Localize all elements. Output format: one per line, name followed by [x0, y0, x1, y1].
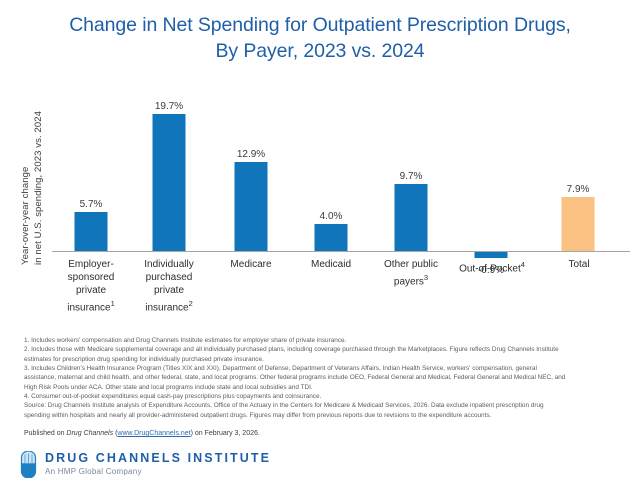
x-label-text: Out-of-Pocket [459, 263, 521, 274]
logo-text: DRUG CHANNELS INSTITUTE An HMP Global Co… [45, 452, 271, 476]
x-label-line: private [126, 284, 212, 297]
footnote-line: assistance, maternal and child health, a… [24, 373, 624, 382]
logo-company-name: DRUG CHANNELS INSTITUTE [45, 452, 271, 465]
bar-slot-total: 7.9% [539, 100, 617, 252]
bar-value-individually-purchased: 19.7% [155, 101, 183, 112]
x-axis-line [52, 251, 630, 252]
x-label-line: Medicare [208, 258, 294, 271]
publication-name: Drug Channels [66, 430, 113, 437]
published-suffix: ) on February 3, 2026. [191, 430, 260, 437]
footnote-line: 1. Includes workers' compensation and Dr… [24, 336, 624, 345]
x-label-text: insurance [67, 302, 110, 313]
bar-chart: 5.7% 19.7% 12.9% 4.0% 9.7% -0.9% [0, 78, 640, 328]
bar-medicaid[interactable] [315, 224, 348, 252]
drug-channels-institute-logo: DRUG CHANNELS INSTITUTE An HMP Global Co… [20, 450, 271, 478]
x-label-medicaid: Medicaid [288, 258, 374, 271]
footnotes: 1. Includes workers' compensation and Dr… [24, 336, 624, 420]
bar-value-medicaid: 4.0% [320, 211, 343, 222]
footnote-marker: 2 [189, 299, 193, 308]
bar-value-other-public-payers: 9.7% [400, 171, 423, 182]
x-label-line: Medicaid [288, 258, 374, 271]
bar-individually-purchased[interactable] [153, 114, 186, 252]
x-label-individually-purchased: Individually purchased private insurance… [126, 258, 212, 314]
x-label-out-of-pocket: Out-of-Pocket4 [449, 258, 535, 275]
logo-tagline: An HMP Global Company [45, 468, 271, 476]
x-label-line: Out-of-Pocket4 [449, 258, 535, 275]
source-line: Source: Drug Channels Institute analysis… [24, 401, 624, 410]
bar-slot-employer-sponsored: 5.7% [52, 100, 130, 252]
drugchannels-link[interactable]: www.DrugChannels.net [117, 430, 190, 437]
x-label-line: Other public [368, 258, 454, 271]
footnote-marker: 1 [111, 299, 115, 308]
chart-title-line-2: By Payer, 2023 vs. 2024 [0, 38, 640, 64]
bar-slot-out-of-pocket: -0.9% [452, 100, 530, 252]
x-label-text: insurance [145, 302, 188, 313]
footnote-marker: 3 [424, 273, 428, 282]
footnote-line: 3. Includes Children's Health Insurance … [24, 364, 624, 373]
x-label-employer-sponsored: Employer- sponsored private insurance1 [48, 258, 134, 314]
source-line: spending within hospitals and nearly all… [24, 411, 624, 420]
footnote-line: High Risk Pools under ACA. Other state a… [24, 383, 624, 392]
x-label-medicare: Medicare [208, 258, 294, 271]
x-label-line: insurance1 [48, 297, 134, 314]
chart-title-line-1: Change in Net Spending for Outpatient Pr… [0, 12, 640, 38]
x-label-line: private [48, 284, 134, 297]
x-label-total: Total [536, 258, 622, 271]
x-label-line: Employer- [48, 258, 134, 271]
x-label-line: sponsored [48, 271, 134, 284]
footnote-line: 4. Consumer out-of-pocket expenditures e… [24, 392, 624, 401]
bar-slot-medicaid: 4.0% [292, 100, 370, 252]
bar-value-employer-sponsored: 5.7% [80, 199, 103, 210]
footnote-marker: 4 [521, 260, 525, 269]
plot-area: 5.7% 19.7% 12.9% 4.0% 9.7% -0.9% [52, 100, 630, 252]
bar-slot-individually-purchased: 19.7% [130, 100, 208, 252]
bar-medicare[interactable] [235, 162, 268, 252]
bar-slot-other-public-payers: 9.7% [372, 100, 450, 252]
x-label-line: payers3 [368, 271, 454, 288]
bar-value-total: 7.9% [567, 184, 590, 195]
footnote-line: estimates for prescription drug spending… [24, 355, 624, 364]
published-prefix: Published on [24, 430, 66, 437]
x-label-line: insurance2 [126, 297, 212, 314]
bar-other-public-payers[interactable] [395, 184, 428, 252]
bar-slot-medicare: 12.9% [212, 100, 290, 252]
bar-value-medicare: 12.9% [237, 149, 265, 160]
x-axis-labels: Employer- sponsored private insurance1 I… [52, 258, 630, 328]
footnote-line: 2. Includes those with Medicare suppleme… [24, 345, 624, 354]
chart-title: Change in Net Spending for Outpatient Pr… [0, 12, 640, 64]
published-line: Published on Drug Channels (www.DrugChan… [24, 430, 260, 437]
bar-employer-sponsored[interactable] [75, 212, 108, 252]
x-label-line: purchased [126, 271, 212, 284]
x-label-line: Individually [126, 258, 212, 271]
bar-total[interactable] [562, 197, 595, 252]
capsule-pill-icon [20, 451, 37, 478]
x-label-line: Total [536, 258, 622, 271]
x-label-other-public-payers: Other public payers3 [368, 258, 454, 288]
x-label-text: payers [394, 276, 424, 287]
